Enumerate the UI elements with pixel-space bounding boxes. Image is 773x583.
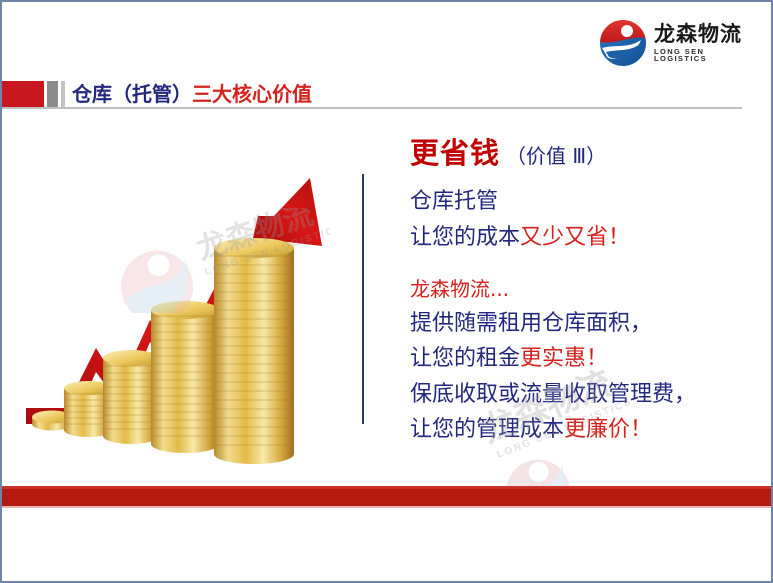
- coin-stack-3: [103, 350, 159, 444]
- brand-name-cn: 龙森物流: [654, 24, 748, 45]
- copy-line-6: 保底收取或流量收取管理费，: [410, 377, 750, 413]
- brand-name-en: LONG SEN LOGISTICS: [654, 48, 748, 63]
- page-title-blue: 仓库（托管）: [72, 82, 192, 106]
- title-gray-block: [47, 81, 58, 107]
- title-red-block: [2, 81, 44, 107]
- footer-red-bar-shadow: [2, 506, 773, 508]
- rising-gold-coin-stacks-illustration: [10, 172, 355, 467]
- page-title: 仓库（托管）三大核心价值: [72, 78, 312, 107]
- longsen-logistics-emblem-icon: [598, 18, 648, 68]
- footer-red-bar: [2, 486, 773, 508]
- slide-canvas: 龙森物流 LONG SEN LOGISTICS 仓库（托管）三大核心价值: [0, 0, 773, 583]
- coin-stack-4: [151, 301, 219, 453]
- column-divider: [362, 174, 364, 424]
- copy-spacer: [410, 255, 750, 273]
- brand-text: 龙森物流 LONG SEN LOGISTICS: [654, 24, 748, 63]
- copy-line-2: 让您的成本又少又省！: [410, 220, 750, 256]
- brand-logo: 龙森物流 LONG SEN LOGISTICS: [598, 16, 748, 70]
- section-title-bar: 仓库（托管）三大核心价值: [2, 81, 742, 107]
- footer-red-bar-highlight: [2, 486, 773, 489]
- copy-line-2-blue: 让您的成本: [410, 225, 520, 250]
- page-title-red: 三大核心价值: [192, 82, 312, 106]
- copy-line-4: 提供随需租用仓库面积，: [410, 306, 750, 342]
- copy-line-1: 仓库托管: [410, 184, 750, 220]
- copy-line-2-red: 又少又省！: [520, 225, 630, 250]
- title-underline: [2, 107, 742, 109]
- copy-line-5: 让您的租金更实惠！: [410, 341, 750, 377]
- copy-line-7-blue: 让您的管理成本: [410, 417, 564, 442]
- copy-line-5-red: 更实惠！: [520, 346, 608, 371]
- copy-line-7-red: 更廉价！: [564, 417, 652, 442]
- copy-column: 更省钱（价值 Ⅲ） 仓库托管 让您的成本又少又省！ 龙森物流... 提供随需租用…: [410, 138, 750, 448]
- copy-line-3: 龙森物流...: [410, 273, 750, 305]
- headline-main: 更省钱: [410, 136, 500, 170]
- headline-sub: （价值 Ⅲ）: [506, 144, 606, 168]
- headline: 更省钱（价值 Ⅲ）: [410, 138, 750, 170]
- copy-line-7: 让您的管理成本更廉价！: [410, 412, 750, 448]
- title-light-block: [61, 81, 65, 107]
- coin-stack-5: [214, 238, 294, 464]
- copy-line-5-blue: 让您的租金: [410, 346, 520, 371]
